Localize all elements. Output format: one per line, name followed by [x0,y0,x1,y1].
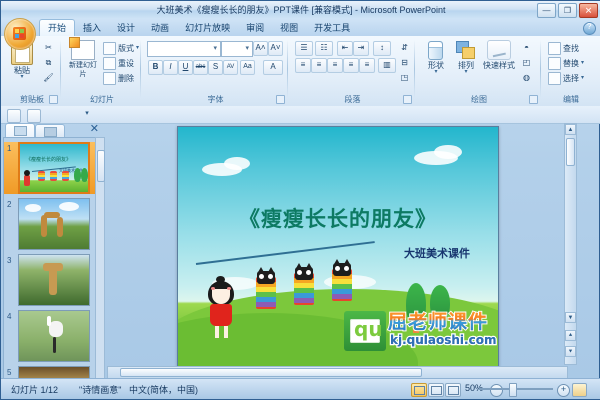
close-button[interactable]: ✕ [579,3,598,18]
quick-styles-icon [487,40,511,60]
copy-button[interactable]: ⧉ [41,56,56,71]
window-title: 大班美术《瘦瘦长长的朋友》PPT课件 [兼容模式] - Microsoft Po… [1,3,600,16]
slide-number: 5 [7,368,11,377]
format-painter-button[interactable]: 🖌 [41,71,56,86]
close-pane-button[interactable]: ✕ [90,123,99,135]
numbering-button[interactable]: ☷ [315,41,333,56]
tree-icon [81,168,88,182]
list-item[interactable]: 3 [4,254,96,306]
powerpoint-window: 大班美术《瘦瘦长长的朋友》PPT课件 [兼容模式] - Microsoft Po… [0,0,600,400]
align-center-button[interactable]: ≡ [311,58,327,73]
tab-review[interactable]: 审阅 [238,21,272,36]
slide-number: 1 [7,144,11,153]
minimize-icon: — [543,7,551,15]
group-label-drawing: 绘图 [417,94,541,105]
layout-caret-icon: ▾ [136,46,139,51]
list-item[interactable]: 2 [4,198,96,250]
hanging-item [50,171,57,181]
group-separator [140,40,141,98]
window-controls: — ❐ ✕ [537,3,598,18]
new-slide-icon [71,40,95,60]
font-color-button[interactable]: A [263,60,283,75]
tree-icon [74,168,81,182]
layout-label: 版式 [118,43,134,54]
select-caret-icon: ▾ [581,76,584,81]
find-label: 查找 [563,43,579,54]
quick-styles-label: 快速样式 [483,61,515,70]
slide-thumbnail [18,310,90,362]
shapes-icon [426,40,446,60]
slide-title[interactable]: 《瘦瘦长长的朋友》 [178,203,498,233]
align-left-button[interactable]: ≡ [295,58,311,73]
increase-indent-button[interactable]: ⇥ [353,41,369,56]
tab-developer[interactable]: 开发工具 [306,21,358,36]
slide-editing-area: 《瘦瘦长长的朋友》 大班美术课件 [107,123,577,379]
office-button[interactable] [4,18,36,50]
align-right-button[interactable]: ≡ [327,58,343,73]
bold-button[interactable]: B [148,60,163,75]
replace-caret-icon: ▾ [581,61,584,66]
qu-letter: qu [354,317,383,341]
hanging-item [38,171,45,181]
convert-smartart-button[interactable]: ◳ [397,71,412,86]
pane-tab-outline[interactable] [35,124,65,137]
girl-figure-icon [206,281,236,339]
group-separator [287,40,288,98]
picture-icon[interactable] [27,109,41,123]
slide-canvas[interactable]: 《瘦瘦长长的朋友》 大班美术课件 [177,126,499,370]
paste-caret-icon: ▾ [7,75,37,80]
ribbon-tabs: 开始 插入 设计 动画 幻灯片放映 审阅 视图 开发工具 [39,19,358,36]
ribbon-group-drawing: 形状 ▾ 排列 ▾ 快速样式 ◓ ◰ ◍ 绘图 [417,36,541,106]
underline-button[interactable]: U [178,60,193,75]
slide-number: 4 [7,312,11,321]
zoom-slider-handle[interactable] [509,383,517,397]
thumb-art-title: 《瘦瘦长长的朋友》 大班美术课件 [20,144,88,192]
zoom-in-button[interactable]: + [557,384,570,397]
arrange-icon [456,40,476,60]
character-spacing-button[interactable]: AV [223,60,238,75]
decrease-indent-button[interactable]: ⇤ [337,41,353,56]
pointer-icon[interactable] [47,109,61,123]
tab-design[interactable]: 设计 [109,21,143,36]
delete-label: 删除 [118,73,134,84]
ribbon-group-slides: 新建幻灯片 版式 ▾ 重设 删除 幻灯片 [63,36,141,106]
strikethrough-button[interactable]: abc [193,60,208,75]
paragraph-dialog-launcher[interactable] [403,95,412,104]
font-name-caret-icon: ▾ [213,44,217,52]
new-slide-icon[interactable] [7,109,21,123]
tab-slideshow[interactable]: 幻灯片放映 [177,21,238,36]
hanging-item [62,171,69,181]
reset-icon [103,57,116,70]
thumb-art-photo [19,255,89,305]
clipboard-dialog-launcher[interactable] [49,95,58,104]
italic-button[interactable]: I [163,60,178,75]
select-icon [548,72,561,85]
horizontal-scrollbar-thumb[interactable] [120,368,422,377]
reset-button[interactable]: 重设 [103,57,134,70]
view-normal-button[interactable] [411,383,427,397]
shape-effects-button[interactable]: ◍ [519,71,534,86]
minimize-button[interactable]: — [537,3,556,18]
tab-view[interactable]: 视图 [272,21,306,36]
ribbon-tabstrip: 开始 插入 设计 动画 幻灯片放映 审阅 视图 开发工具 [1,19,600,37]
select-label: 选择 [563,73,579,84]
decrease-font-size-button[interactable]: A˅ [268,41,283,56]
hanging-item [332,269,352,301]
quick-access-toolbar: ▾ [1,106,600,124]
reset-label: 重设 [118,58,134,69]
arrange-caret-icon: ▾ [453,70,479,75]
increase-font-size-button[interactable]: A˄ [253,41,268,56]
status-language[interactable]: 中文(简体，中国) [129,383,198,396]
group-label-paragraph: 段落 [290,94,415,105]
watermark-text: 屈老师课件 [388,307,488,334]
find-button[interactable]: 查找 [548,42,579,55]
font-dialog-launcher[interactable] [276,95,285,104]
drawing-dialog-launcher[interactable] [529,95,538,104]
view-slideshow-button[interactable] [445,383,461,397]
tab-home[interactable]: 开始 [39,19,75,36]
search-icon [548,42,561,55]
girl-figure-icon [24,175,30,186]
replace-icon [548,57,561,70]
slides-tab-icon [14,126,27,136]
font-size-caret-icon: ▾ [245,44,249,52]
ribbon: 粘贴 ▾ ✂ ⧉ 🖌 剪贴板 新建幻灯片 版式 ▾ 重设 [1,36,600,107]
status-theme[interactable]: "诗情画意" [79,383,121,396]
view-slide-sorter-button[interactable] [428,383,444,397]
effects-icon[interactable] [65,109,79,123]
status-bar: 幻灯片 1/12 "诗情画意" 中文(简体，中国) 50% − + [1,378,600,399]
tab-insert[interactable]: 插入 [75,21,109,36]
office-logo-icon [13,27,26,40]
thumb-art-photo [19,199,89,249]
close-icon: ✕ [585,6,593,15]
delete-slide-button[interactable]: 删除 [103,72,134,85]
pane-tabs [5,123,65,137]
slide-thumbnail: 《瘦瘦长长的朋友》 大班美术课件 [18,142,90,194]
outline-tab-icon [44,127,57,137]
slide-thumbnail-list[interactable]: 1 《瘦瘦长长的朋友》 大班美术课件 [3,137,97,379]
quick-styles-button[interactable]: 快速样式 [483,40,515,70]
pane-tab-slides[interactable] [5,123,35,137]
vertical-scrollbar[interactable]: ▲ ▼ ⯅ ⯆ [564,123,577,365]
line-spacing-button[interactable]: ↕ [373,41,391,56]
watermark: qu 屈老师课件 屈老师课件 kj.qulaoshi.com kj.qulaos… [344,305,494,367]
layout-button[interactable]: 版式 ▾ [103,42,139,55]
list-item[interactable]: 1 《瘦瘦长长的朋友》 大班美术课件 [4,142,96,194]
replace-label: 替换 [563,58,579,69]
group-label-editing: 编辑 [543,94,599,105]
hanging-item [256,277,276,309]
next-slide-button[interactable]: ⯆ [565,346,576,357]
cloud-shape [224,157,250,170]
new-slide-button[interactable]: 新建幻灯片 [67,40,99,79]
distribute-button[interactable]: ≡ [359,58,375,73]
fit-to-window-button[interactable] [572,383,587,397]
slide-number: 3 [7,256,11,265]
text-direction-button[interactable]: ⇵ [397,41,412,56]
maximize-button[interactable]: ❐ [558,3,577,18]
cut-button[interactable]: ✂ [41,41,56,56]
maximize-icon: ❐ [564,7,571,15]
justify-button[interactable]: ≡ [343,58,359,73]
align-text-button[interactable]: ⊟ [397,56,412,71]
ribbon-group-font: ▾ ▾ A˄ A˅ B I U abc S AV Aa A 字体 [143,36,288,106]
group-label-font: 字体 [143,94,288,105]
pane-scrollbar-thumb[interactable] [97,150,105,182]
watermark-url: kj.qulaoshi.com [390,333,496,347]
shape-outline-button[interactable]: ◰ [519,56,534,71]
scroll-up-button[interactable]: ▲ [565,124,576,135]
shape-fill-button[interactable]: ◓ [519,41,534,56]
help-icon[interactable] [583,22,596,35]
title-bar: 大班美术《瘦瘦长长的朋友》PPT课件 [兼容模式] - Microsoft Po… [1,1,600,20]
replace-button[interactable]: 替换 ▾ [548,57,584,70]
tab-animations[interactable]: 动画 [143,21,177,36]
text-shadow-button[interactable]: S [208,60,223,75]
ribbon-group-paragraph: ☰ ☷ ⇤ ⇥ ↕ ≡ ≡ ≡ ≡ ≡ ▥ ⇵ ⊟ ◳ 段落 [290,36,415,106]
more-icon[interactable]: ▾ [83,109,91,121]
bullets-button[interactable]: ☰ [295,41,313,56]
slide-number: 2 [7,200,11,209]
cloud-shape [434,145,462,159]
group-separator [60,40,61,98]
pane-scrollbar[interactable] [95,137,105,379]
slides-pane: ✕ 1 《瘦瘦长长的朋友》 大班美术课件 [1,123,105,379]
slide-thumbnail [18,198,90,250]
vertical-scrollbar-thumb[interactable] [566,138,575,166]
delete-icon [103,72,116,85]
arrange-button[interactable]: 排列 ▾ [453,40,479,75]
group-separator [540,40,541,98]
previous-slide-button[interactable]: ⯅ [565,330,576,341]
font-size-input[interactable]: ▾ [221,41,253,57]
thumb-art-photo [19,311,89,361]
layout-icon [103,42,116,55]
zoom-out-button[interactable]: − [490,384,503,397]
slide-subtitle[interactable]: 大班美术课件 [404,245,470,261]
new-slide-label: 新建幻灯片 [67,61,99,79]
hanging-item [294,273,314,305]
select-button[interactable]: 选择 ▾ [548,72,584,85]
change-case-button[interactable]: Aa [240,60,255,75]
status-slide-count: 幻灯片 1/12 [11,383,58,396]
group-separator [414,40,415,98]
group-label-slides: 幻灯片 [63,94,141,105]
columns-button[interactable]: ▥ [378,58,396,73]
font-name-input[interactable]: ▾ [147,41,221,57]
scroll-down-button[interactable]: ▼ [565,312,576,323]
ribbon-group-editing: 查找 替换 ▾ 选择 ▾ 编辑 [543,36,599,106]
shapes-button[interactable]: 形状 ▾ [423,40,449,75]
thumb-title-text: 《瘦瘦长长的朋友》 [26,156,71,163]
shapes-caret-icon: ▾ [423,70,449,75]
list-item[interactable]: 4 [4,310,96,362]
slide-thumbnail [18,254,90,306]
